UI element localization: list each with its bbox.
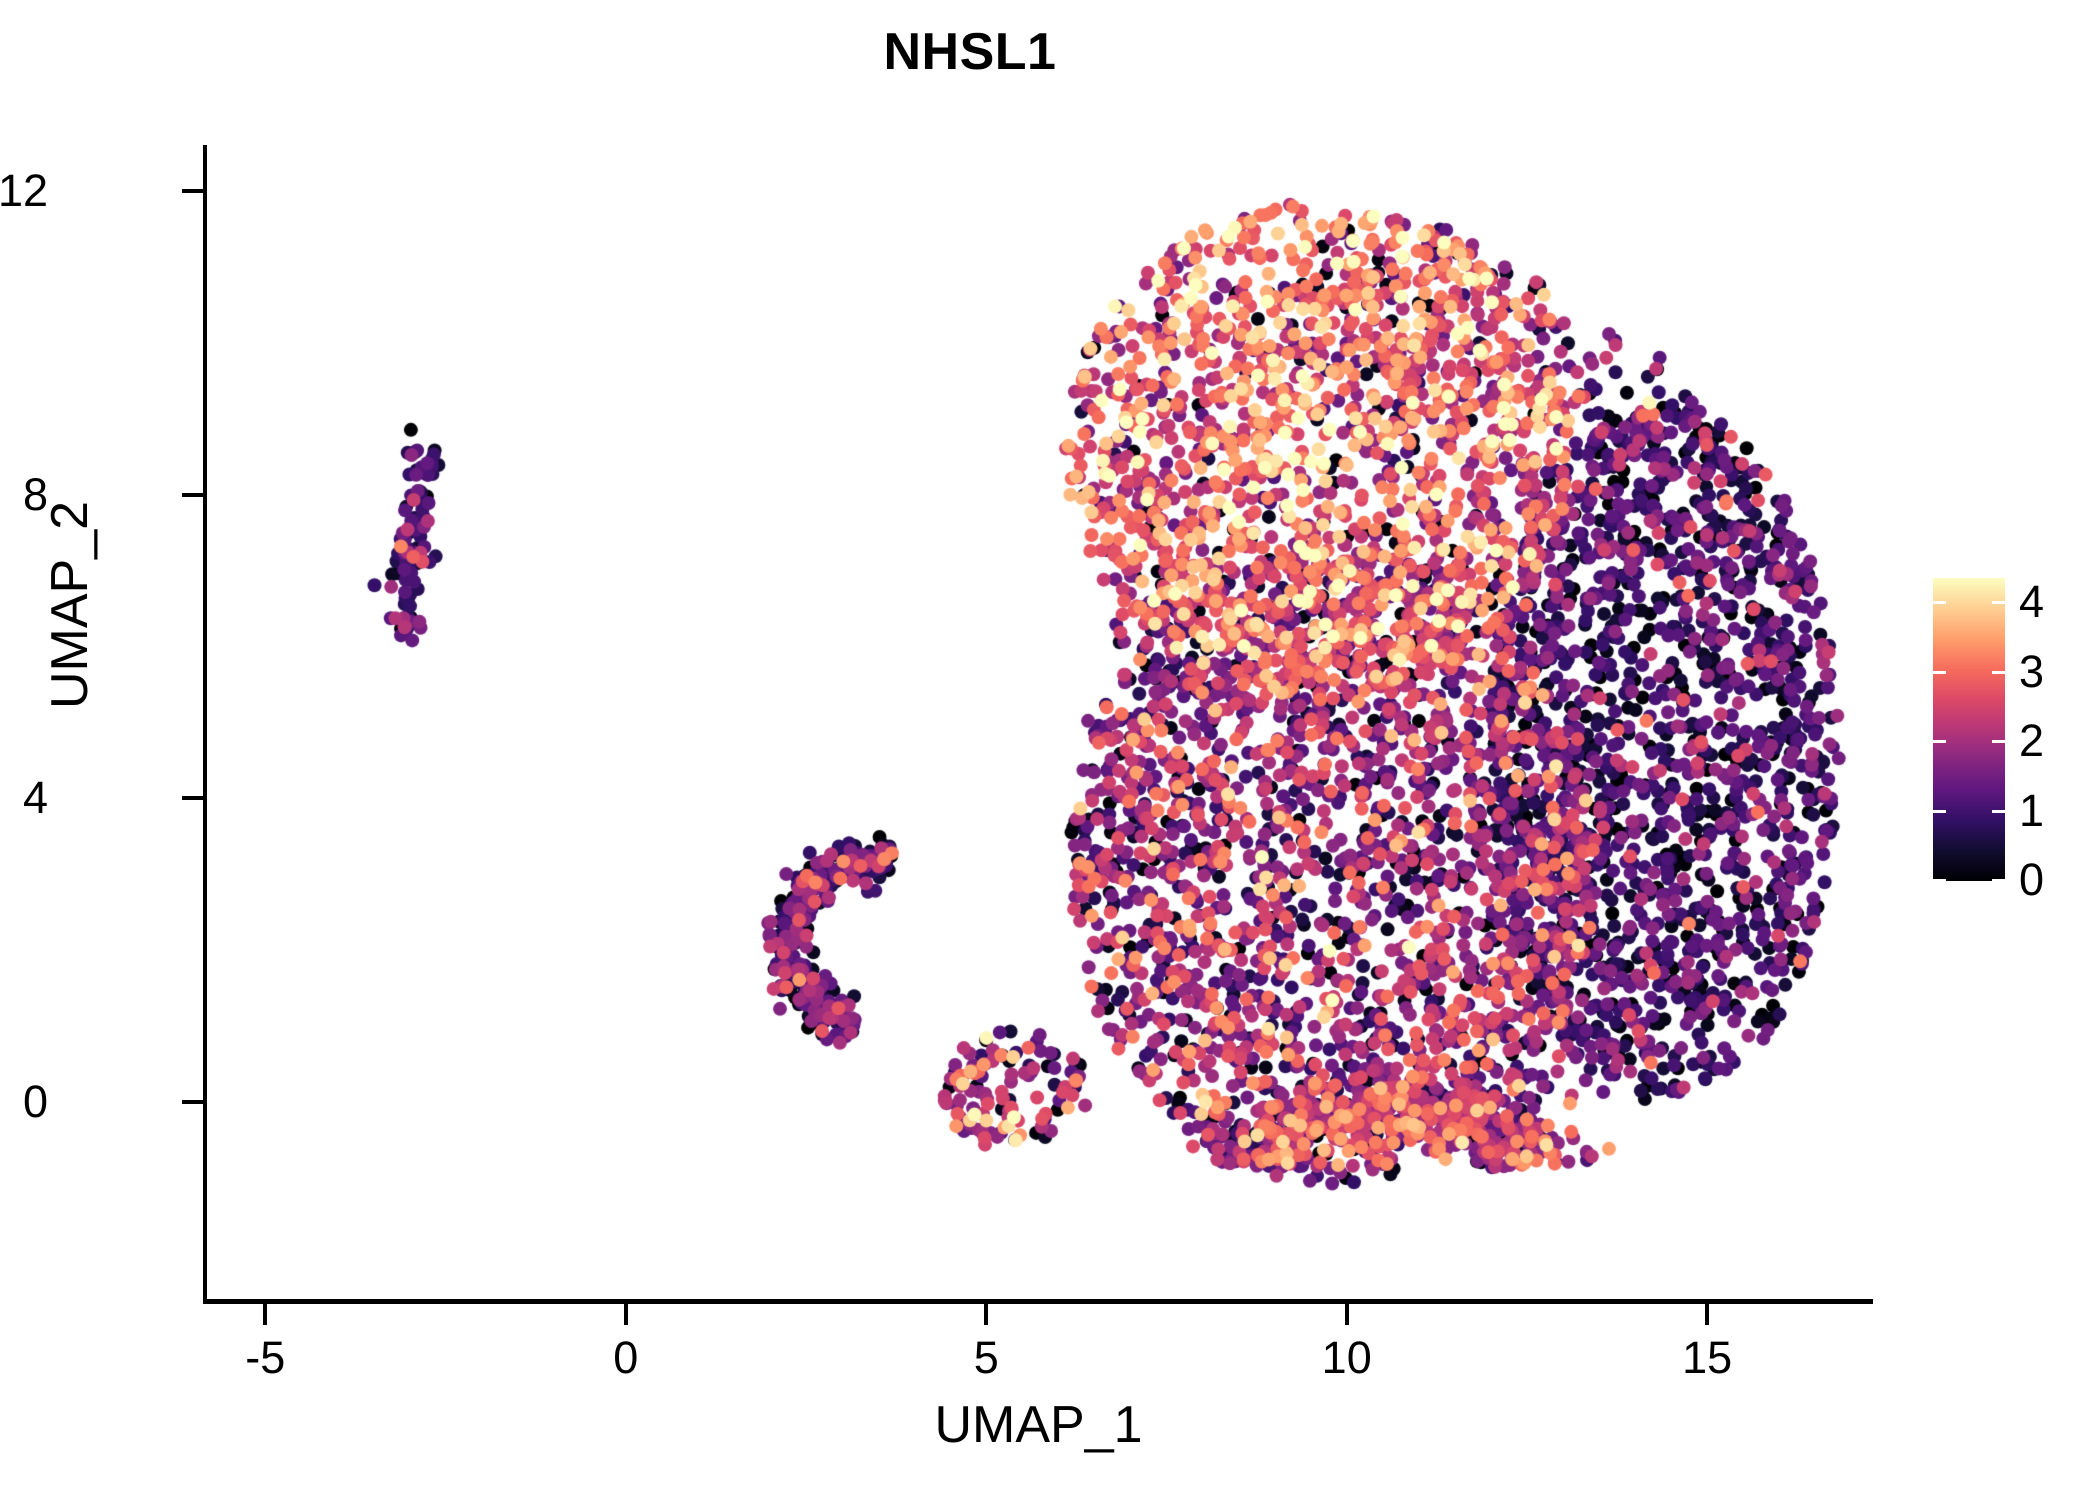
x-tick-mark [984,1304,988,1325]
x-tick-mark [1705,1304,1709,1325]
colorbar-tick-label: 1 [2019,785,2044,837]
colorbar-tick-mark [1933,671,1946,674]
colorbar-tick-mark [1992,671,2005,674]
y-tick-mark [182,493,203,497]
x-tick-label: -5 [245,1332,285,1384]
colorbar-gradient [1933,578,2005,881]
plot-panel [204,145,1873,1300]
colorbar-tick-label: 0 [2019,854,2044,906]
colorbar-tick-mark [1992,810,2005,813]
colorbar-tick-mark [1933,879,1946,882]
colorbar-tick-mark [1933,740,1946,743]
colorbar-tick-mark [1992,601,2005,604]
x-axis-line [203,1299,1873,1304]
y-tick-mark [182,189,203,193]
colorbar-tick-label: 3 [2019,646,2044,698]
y-tick-label: 4 [23,772,48,824]
colorbar-tick-mark [1992,879,2005,882]
x-tick-label: 0 [613,1332,638,1384]
x-tick-mark [624,1304,628,1325]
y-tick-label: 12 [0,165,48,217]
x-tick-label: 15 [1682,1332,1732,1384]
x-tick-label: 10 [1322,1332,1372,1384]
y-tick-label: 0 [23,1076,48,1128]
colorbar-tick-mark [1933,601,1946,604]
colorbar-tick-mark [1992,740,2005,743]
y-axis-line [203,145,207,1303]
x-axis-title: UMAP_1 [204,1395,1873,1455]
x-tick-label: 5 [974,1332,999,1384]
plot-title: NHSL1 [0,22,1940,82]
y-axis-title: UMAP_2 [40,435,100,775]
y-tick-mark [182,796,203,800]
colorbar-tick-label: 4 [2019,576,2044,628]
x-tick-mark [263,1304,267,1325]
colorbar-legend: 01234 [1933,578,2093,884]
x-tick-mark [1345,1304,1349,1325]
figure-root: NHSL1 04812 -5051015 UMAP_2 UMAP_1 01234 [0,0,2100,1500]
colorbar-tick-label: 2 [2019,715,2044,767]
y-tick-mark [182,1100,203,1104]
colorbar-tick-mark [1933,810,1946,813]
scatter-points-canvas [204,145,1873,1300]
